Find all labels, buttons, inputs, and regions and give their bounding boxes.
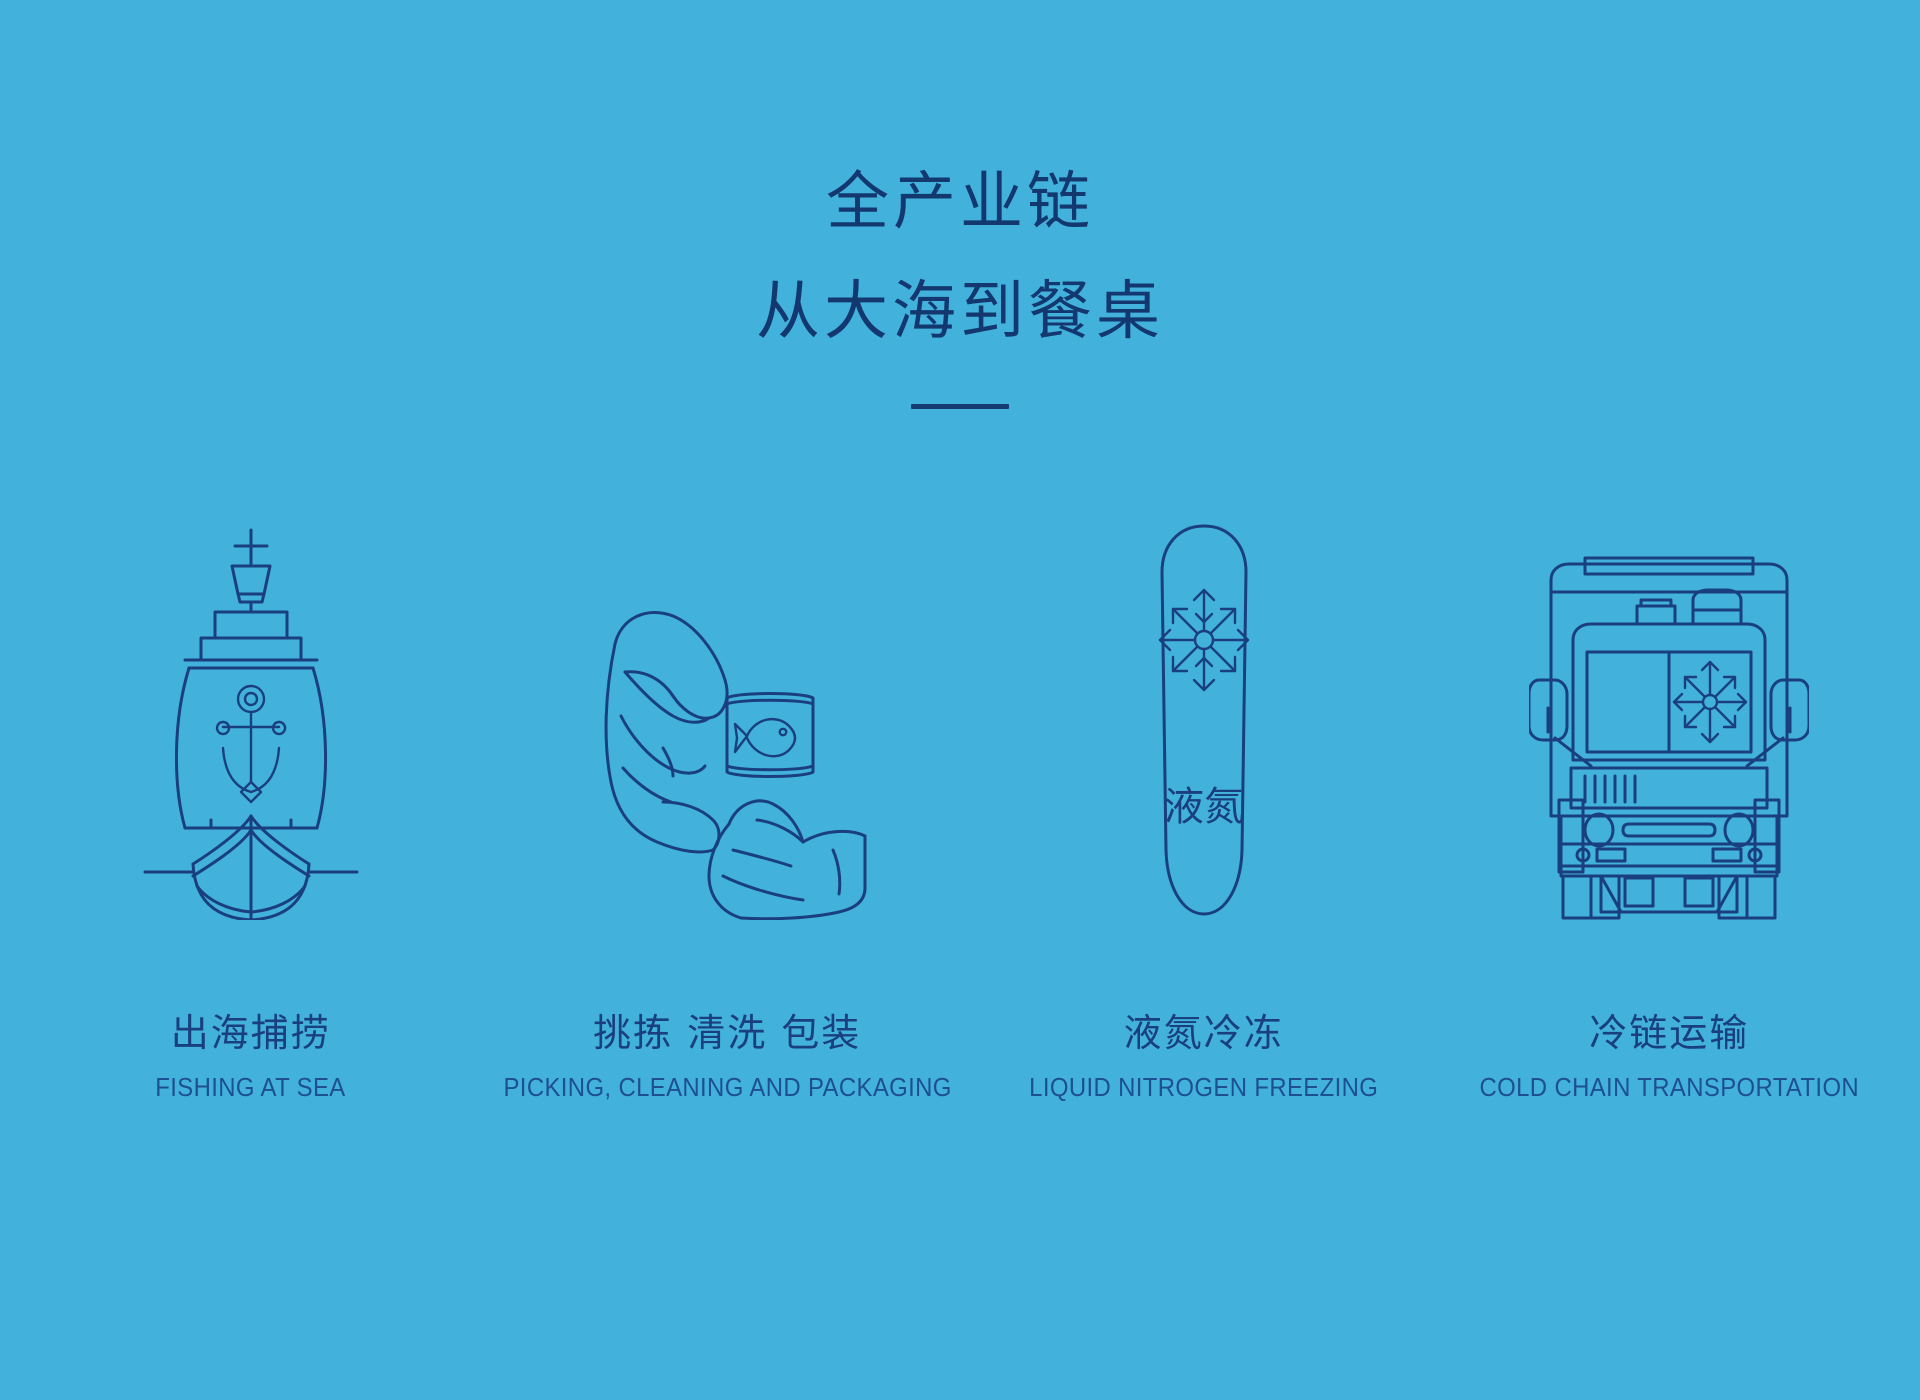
fishing-boat-icon: [131, 520, 371, 920]
step-cold-chain-transportation: 冷链运输 COLD CHAIN TRANSPORTATION: [1436, 520, 1902, 1100]
refrigerated-truck-icon: [1529, 520, 1809, 920]
step-cn-label: 出海捕捞: [171, 1014, 331, 1052]
hands-fish-package-icon: [577, 520, 877, 920]
step-en-label: COLD CHAIN TRANSPORTATION: [1479, 1074, 1859, 1100]
snowflake-icon: [1674, 662, 1746, 742]
step-en-label: LIQUID NITROGEN FREEZING: [1029, 1074, 1378, 1100]
snowflake-icon: [1160, 590, 1248, 690]
step-cn-label: 液氮冷冻: [1124, 1014, 1284, 1052]
title-block: 全产业链 从大海到餐桌: [0, 170, 1920, 409]
step-cn-label: 冷链运输: [1589, 1014, 1749, 1052]
step-cn-label: 挑拣 清洗 包装: [593, 1014, 861, 1052]
step-fishing-at-sea: 出海捕捞 FISHING AT SEA: [18, 520, 484, 1100]
liquid-nitrogen-icon: 液氮: [1134, 520, 1274, 920]
liquid-nitrogen-inner-text: 液氮: [1164, 784, 1244, 830]
step-liquid-nitrogen-freezing: 液氮 液氮冷冻 LIQUID NITROGEN FREEZING: [971, 520, 1437, 1100]
title-divider: [911, 404, 1009, 409]
page-title-line-1: 全产业链: [0, 170, 1920, 233]
step-picking-cleaning-packaging: 挑拣 清洗 包装 PICKING, CLEANING AND PACKAGING: [484, 520, 971, 1100]
step-en-label: PICKING, CLEANING AND PACKAGING: [503, 1074, 951, 1100]
process-steps: 出海捕捞 FISHING AT SEA: [0, 520, 1920, 1220]
step-en-label: FISHING AT SEA: [156, 1074, 346, 1100]
full-industry-chain-infographic: 全产业链 从大海到餐桌: [0, 0, 1920, 1400]
page-title-line-2: 从大海到餐桌: [0, 280, 1920, 344]
